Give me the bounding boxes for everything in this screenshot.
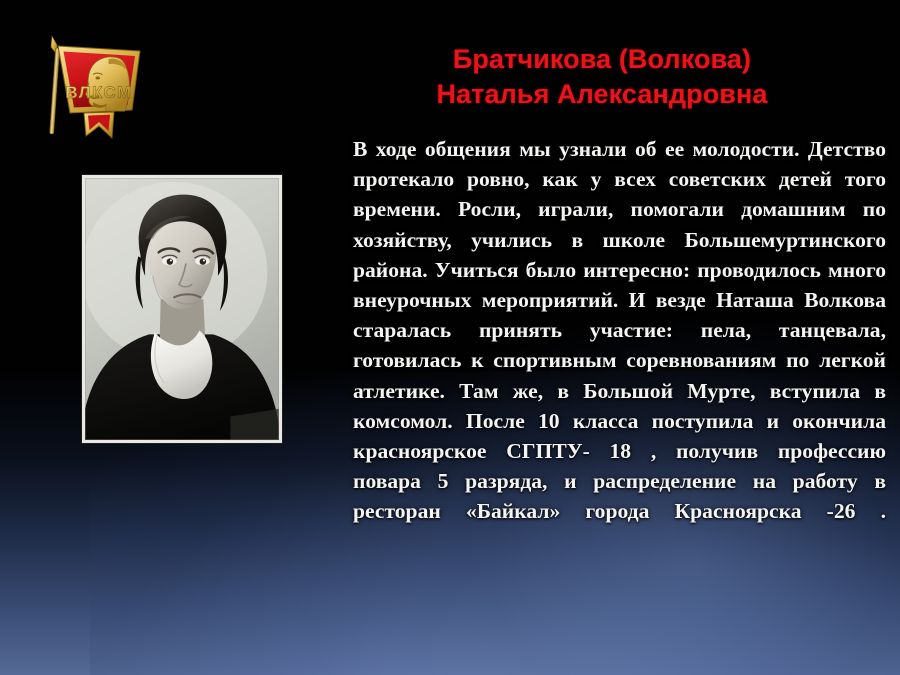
biography-text: В ходе общения мы узнали об ее молодости… — [353, 134, 886, 557]
page-title-line-2: Наталья Александровна — [318, 77, 886, 112]
biography-paragraph: В ходе общения мы узнали об ее молодости… — [353, 134, 886, 557]
page-title: Братчикова (Волкова) Наталья Александров… — [318, 42, 886, 112]
vlksm-badge-icon: ВЛКСМ — [22, 18, 158, 154]
portrait-photo-image — [85, 178, 279, 440]
page-title-line-1: Братчикова (Волкова) — [318, 42, 886, 77]
presentation-slide: ВЛКСМ — [0, 0, 900, 675]
badge-flagpole-icon — [50, 36, 60, 134]
vlksm-badge: ВЛКСМ — [22, 18, 158, 154]
portrait-photo — [82, 175, 282, 443]
badge-vlksm-text: ВЛКСМ — [65, 83, 132, 102]
